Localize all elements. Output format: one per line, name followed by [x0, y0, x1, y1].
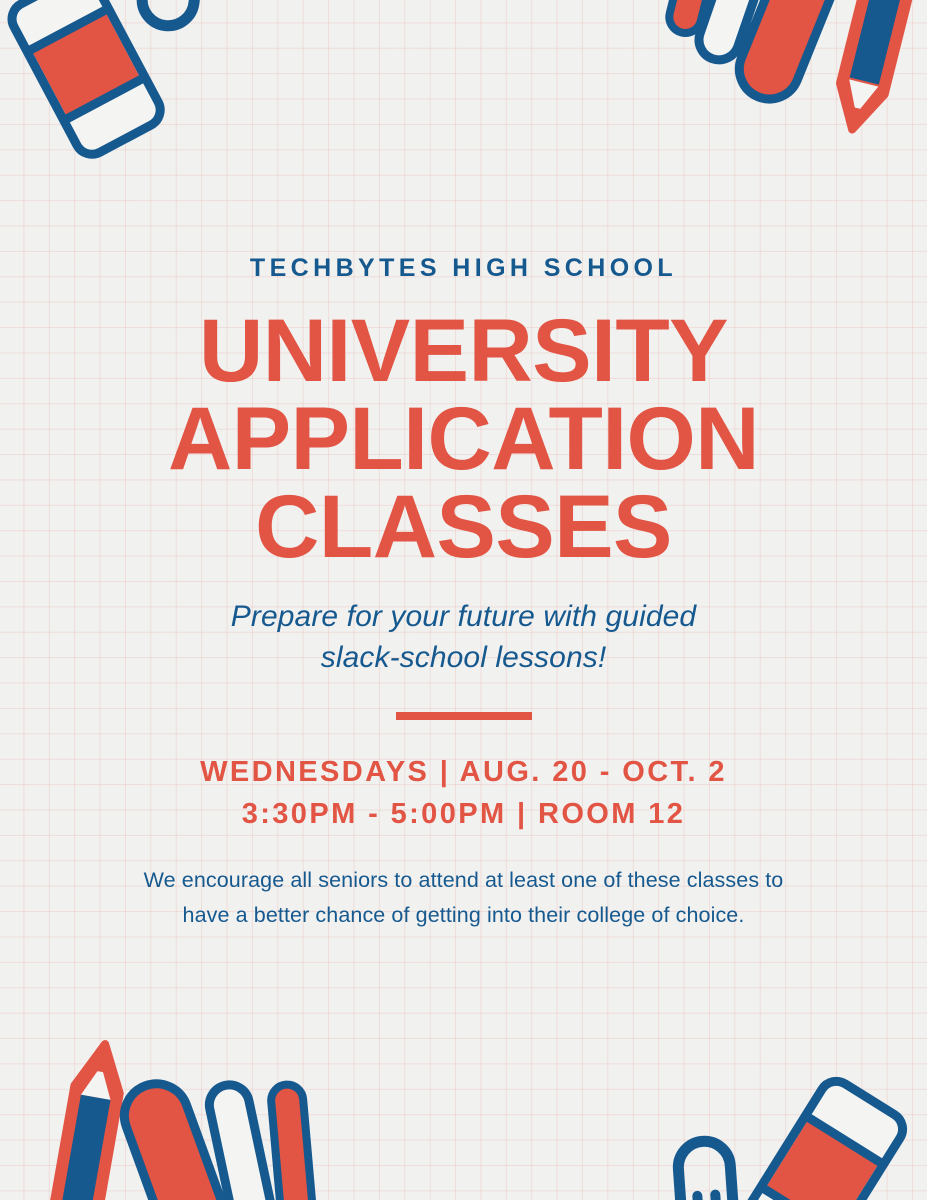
divider-wrapper — [0, 679, 927, 720]
page-title: UNIVERSITY APPLICATION CLASSES — [0, 283, 927, 570]
schedule-details: WEDNESDAYS | AUG. 20 - OCT. 2 3:30PM - 5… — [0, 720, 927, 835]
decoration-bottom-right — [665, 1055, 915, 1200]
schedule-line-1: WEDNESDAYS | AUG. 20 - OCT. 2 — [0, 751, 927, 793]
eraser-icon — [736, 1075, 909, 1200]
schedule-line-2: 3:30PM - 5:00PM | ROOM 12 — [0, 793, 927, 835]
books-icon — [115, 1035, 356, 1200]
pencil-icon — [43, 1040, 128, 1200]
decoration-bottom-left — [30, 1027, 320, 1200]
body-line-1: We encourage all seniors to attend at le… — [0, 863, 927, 898]
poster-content: TECHBYTES HIGH SCHOOL UNIVERSITY APPLICA… — [0, 0, 927, 932]
body-line-2: have a better chance of getting into the… — [0, 898, 927, 933]
headline-line-2: APPLICATION — [0, 394, 927, 482]
headline-line-1: UNIVERSITY — [0, 306, 927, 394]
subtitle: Prepare for your future with guided slac… — [0, 570, 927, 679]
paperclip-icon — [677, 1140, 739, 1200]
subtitle-line-2: slack-school lessons! — [0, 637, 927, 678]
poster-canvas: TECHBYTES HIGH SCHOOL UNIVERSITY APPLICA… — [0, 0, 927, 1200]
subtitle-line-1: Prepare for your future with guided — [0, 596, 927, 637]
school-name: TECHBYTES HIGH SCHOOL — [0, 0, 927, 283]
section-divider — [396, 712, 532, 720]
body-paragraph: We encourage all seniors to attend at le… — [0, 835, 927, 933]
headline-line-3: CLASSES — [0, 482, 927, 570]
